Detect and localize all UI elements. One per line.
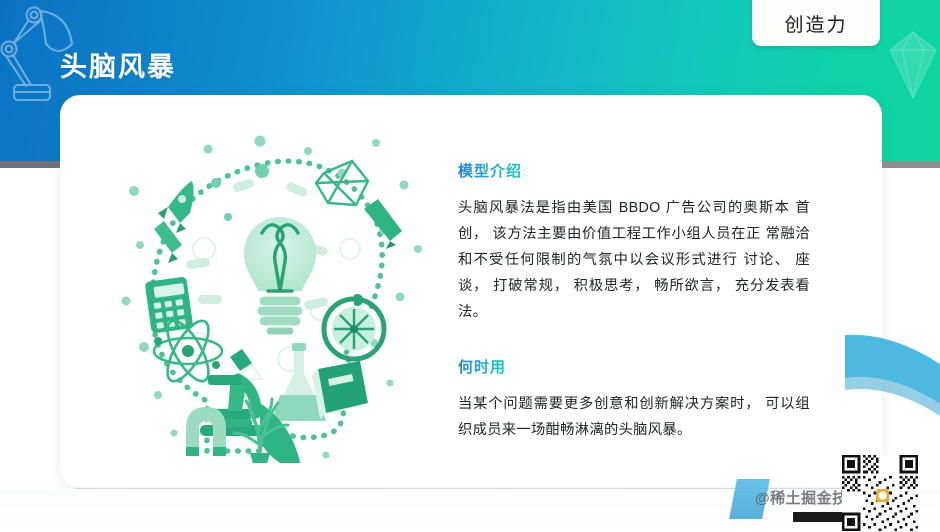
creativity-badge[interactable]: 创造力 bbox=[752, 0, 880, 46]
section-body: 头脑风暴法是指由美国 BBDO 广告公司的奥斯本 首创， 该方法主要由价值工程工… bbox=[458, 195, 810, 325]
plant-pot-icon bbox=[250, 453, 270, 463]
section-heading: 何时用 bbox=[458, 356, 506, 377]
screenshot-root: 头脑风暴 创造力 bbox=[0, 0, 940, 532]
flask-icon bbox=[364, 199, 402, 249]
molecule-icon bbox=[316, 161, 368, 205]
qr-code-icon bbox=[842, 455, 918, 531]
diamond-gem-icon bbox=[876, 30, 940, 102]
page-title: 头脑风暴 bbox=[60, 45, 176, 84]
banner-bottom-strip-right bbox=[882, 161, 940, 168]
lightbulb-icon bbox=[244, 217, 316, 331]
compass-icon bbox=[324, 294, 384, 359]
text-content: 模型介绍 头脑风暴法是指由美国 BBDO 广告公司的奥斯本 首创， 该方法主要由… bbox=[458, 160, 810, 443]
book-icon bbox=[312, 361, 368, 419]
pencil-icon bbox=[154, 221, 182, 263]
section-heading: 模型介绍 bbox=[458, 160, 522, 181]
creativity-badge-label: 创造力 bbox=[784, 10, 847, 37]
section-when-to-use: 何时用 当某个问题需要更多创意和创新解决方案时， 可以组织成员来一场酣畅淋漓的头… bbox=[458, 356, 810, 443]
section-body: 当某个问题需要更多创意和创新解决方案时， 可以组织成员来一场酣畅淋漓的头脑风暴。 bbox=[458, 391, 810, 443]
blue-ribbon-decoration bbox=[845, 330, 940, 430]
section-model-intro: 模型介绍 头脑风暴法是指由美国 BBDO 广告公司的奥斯本 首创， 该方法主要由… bbox=[458, 160, 810, 325]
brain-head-ideas-illustration bbox=[112, 133, 442, 463]
